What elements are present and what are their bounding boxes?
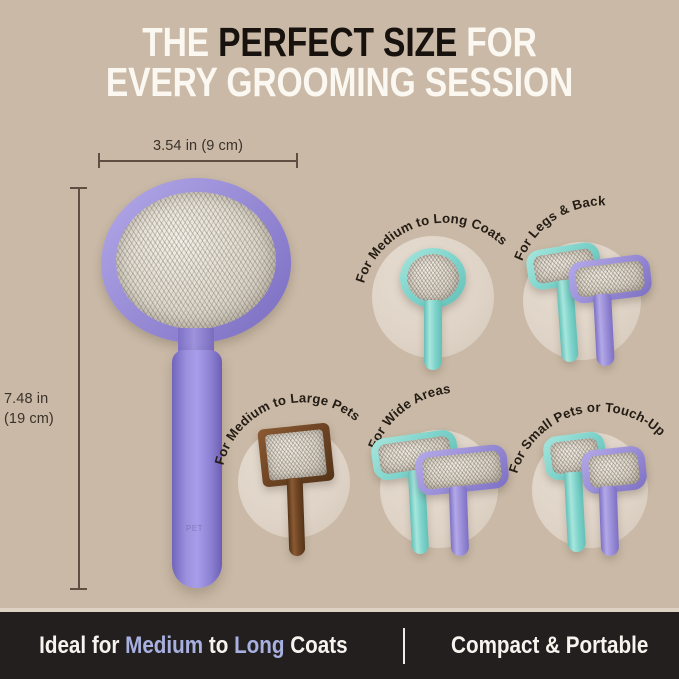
callout-brush-handle-mint (424, 300, 442, 370)
height-dimension-label-line2: (19 cm) (4, 410, 70, 430)
callout-brush-handle-purple (593, 294, 615, 367)
footer-left-text: Ideal for Medium to Long Coats (40, 632, 348, 660)
footer-left-mid: to (204, 632, 235, 659)
callout-legs-and-back: For Legs & Back (515, 196, 679, 366)
headline-line-2: EVERY GROOMING SESSION (61, 62, 618, 102)
footer-accent-long: Long (235, 632, 285, 659)
width-dimension-line (98, 160, 298, 162)
brush-head (98, 175, 294, 347)
headline-word-the: THE (142, 19, 218, 65)
callout-brush-handle-wood (287, 478, 306, 557)
width-dimension-label: 3.54 in (9 cm) (98, 138, 298, 154)
callout-brush-handle-purple (449, 486, 469, 557)
headline-word-perfect-size: PERFECT SIZE (218, 19, 457, 65)
callout-medium-to-large-pets: For Medium to Large Pets (216, 386, 386, 556)
callout-small-pets-or-touch-up: For Small Pets or Touch-Up (512, 386, 679, 556)
headline-word-for: FOR (457, 19, 537, 65)
callout-medium-to-long-coats: For Medium to Long Coats (356, 200, 526, 370)
footer-left-post: Coats (285, 632, 348, 659)
footer-banner: Ideal for Medium to Long Coats Compact &… (0, 612, 679, 679)
width-dimension-cap-left (98, 153, 100, 168)
headline-line-1: THE PERFECT SIZE FOR (61, 22, 618, 62)
footer-divider (403, 628, 405, 664)
callout-brush-head-mint (400, 248, 466, 308)
footer-right-text: Compact & Portable (451, 632, 648, 660)
brush-handle: PET (172, 350, 222, 588)
footer-left-pre: Ideal for (40, 632, 126, 659)
footer-accent-medium: Medium (126, 632, 204, 659)
brush-pin-edge (108, 181, 283, 338)
page-title: THE PERFECT SIZE FOR EVERY GROOMING SESS… (0, 22, 679, 102)
height-dimension-cap-bottom (70, 588, 87, 590)
infographic-canvas: THE PERFECT SIZE FOR EVERY GROOMING SESS… (0, 0, 679, 679)
height-dimension-label-line1: 7.48 in (4, 390, 70, 410)
height-dimension-label: 7.48 in (19 cm) (4, 390, 70, 429)
callout-brush-handle-purple (599, 486, 619, 557)
width-dimension-cap-right (296, 153, 298, 168)
height-dimension-line (78, 187, 80, 589)
height-dimension-cap-top (70, 187, 87, 189)
brush-handle-mark: PET (186, 524, 208, 544)
